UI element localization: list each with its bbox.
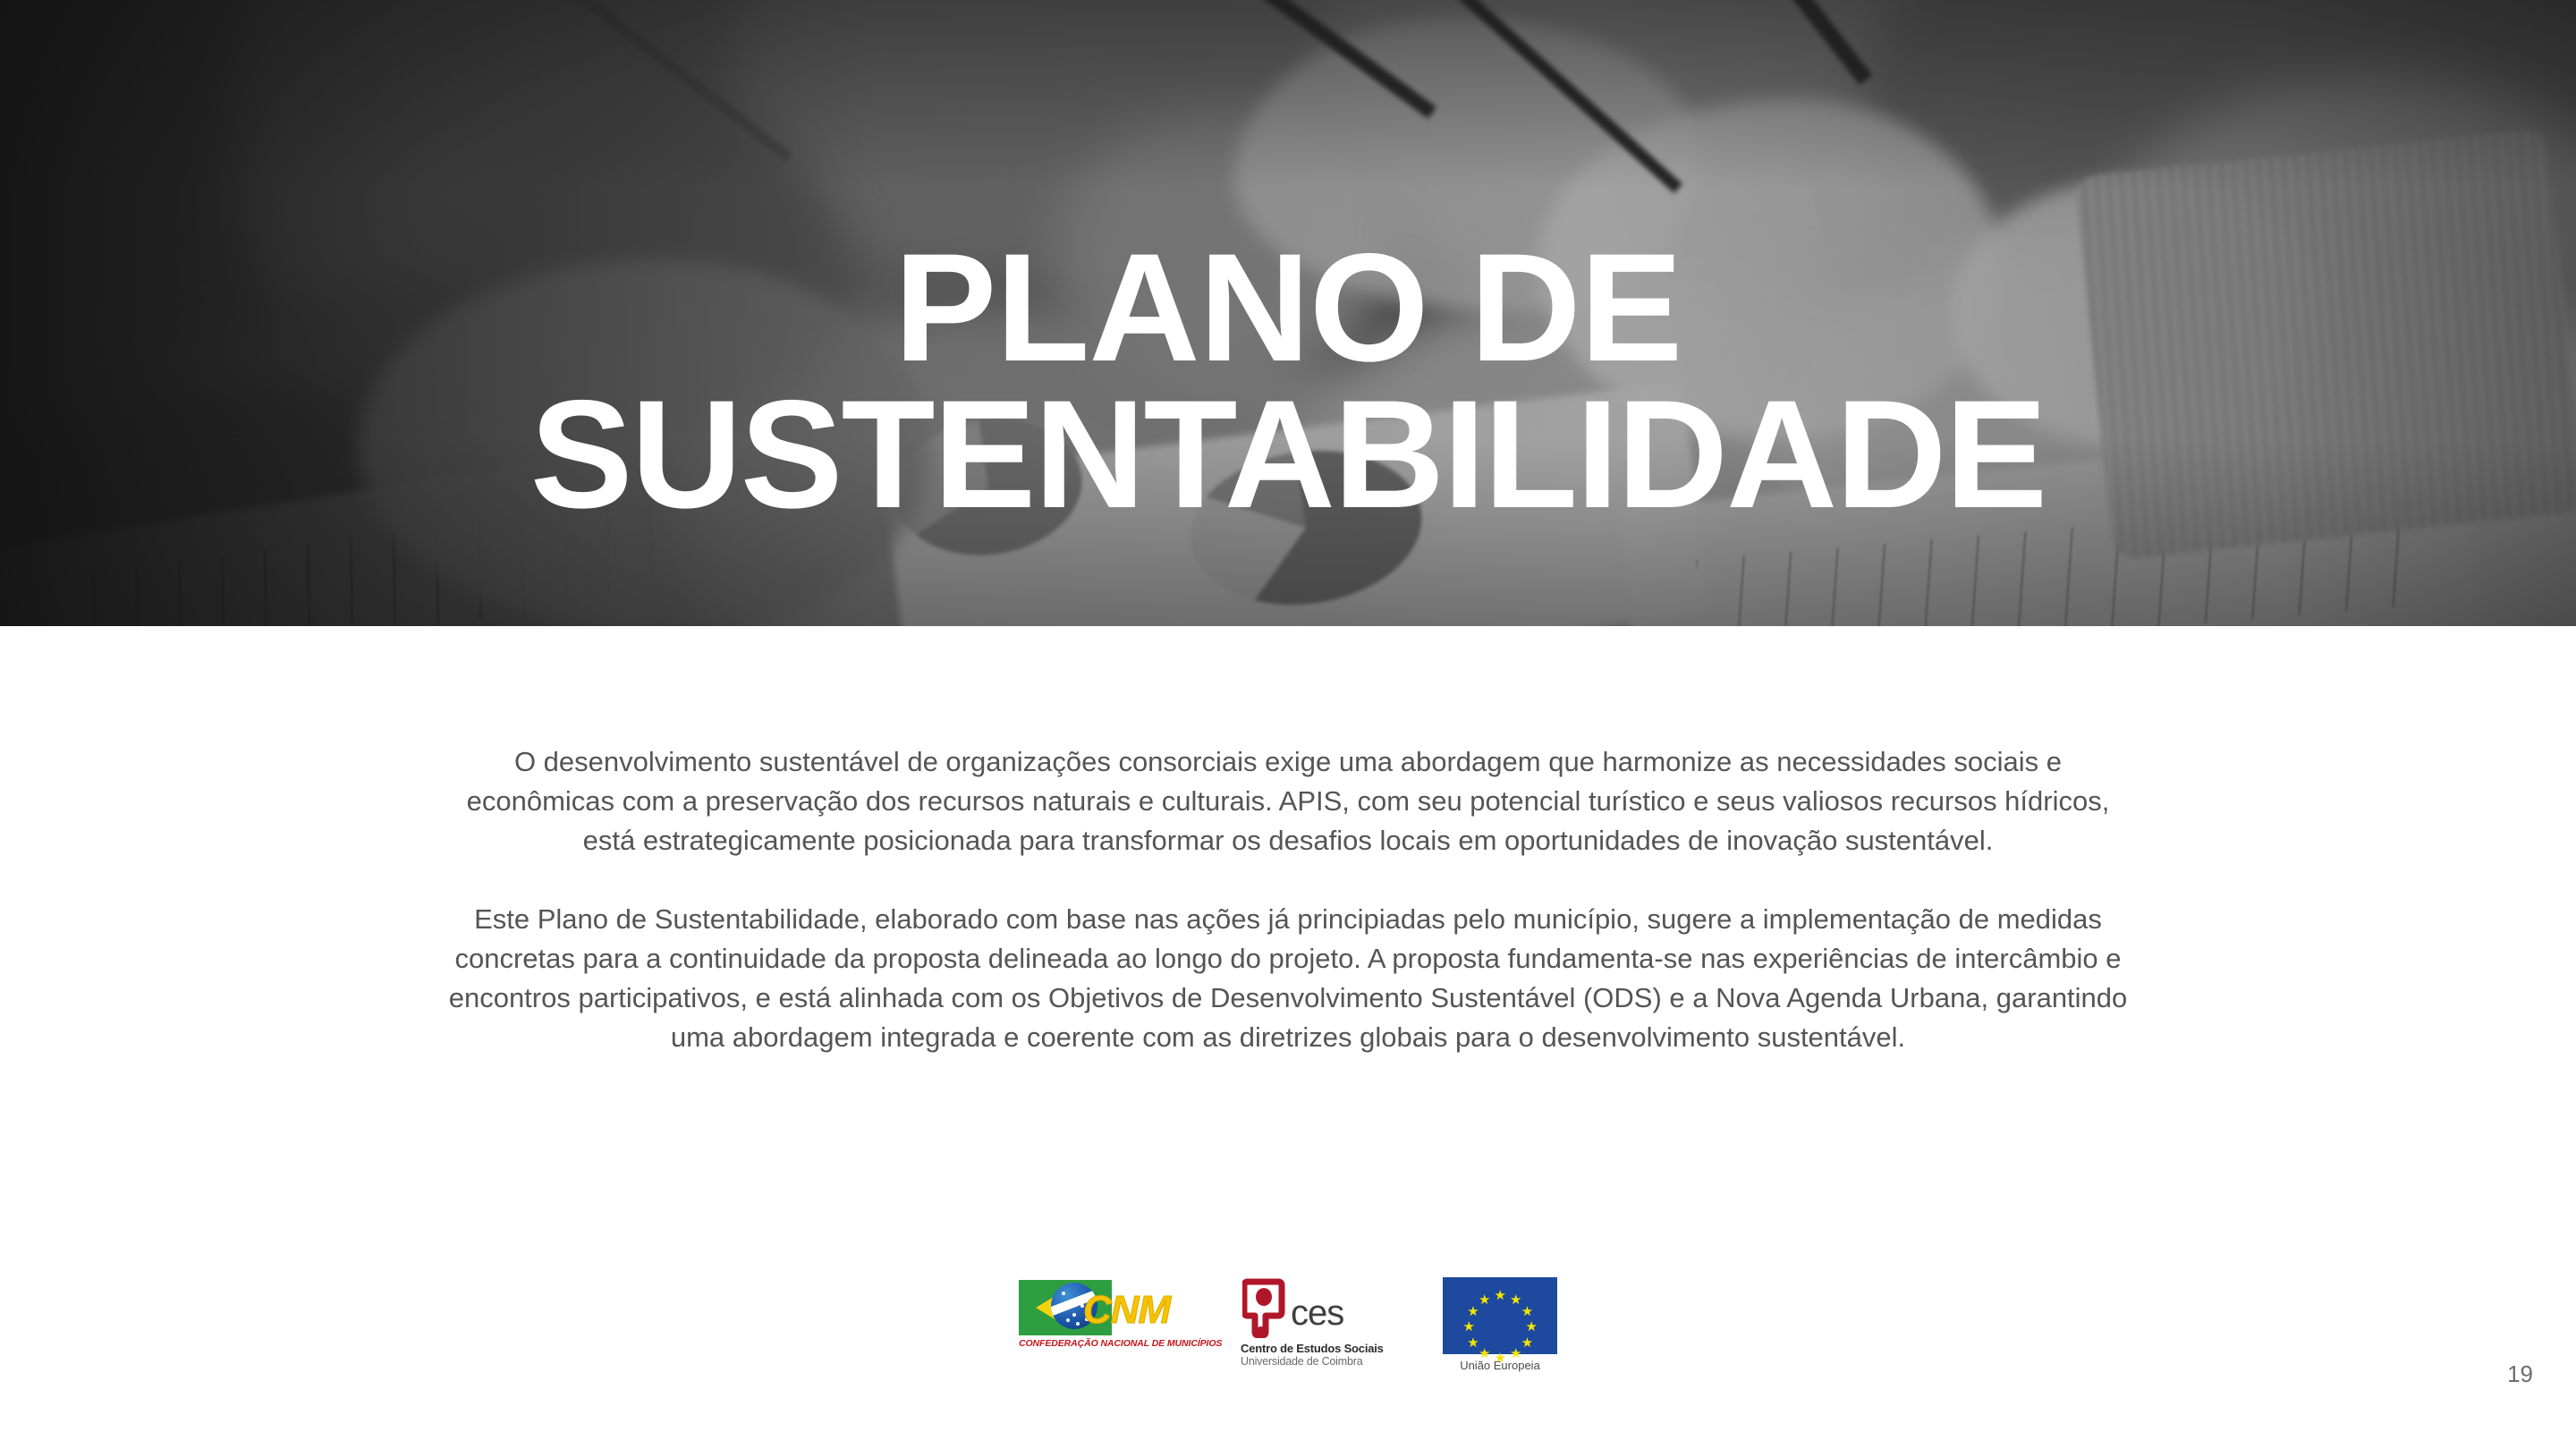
ces-logo: ces Centro de Estudos Sociais Universida… xyxy=(1241,1277,1391,1368)
page-title: PLANO DESUSTENTABILIDADE xyxy=(0,235,2576,528)
cnm-caption: CONFEDERAÇÃO NACIONAL DE MUNICÍPIOS xyxy=(1019,1338,1189,1349)
body-paragraph-1: O desenvolvimento sustentável de organiz… xyxy=(438,626,2138,860)
cnm-wordmark: CNM xyxy=(1083,1288,1170,1333)
hero-banner: PLANO DESUSTENTABILIDADE xyxy=(0,0,2576,626)
ces-caption-line-1: Centro de Estudos Sociais xyxy=(1241,1342,1391,1355)
eu-logo: ★ ★ ★ ★ ★ ★ ★ ★ ★ ★ ★ ★ União Europeia xyxy=(1443,1277,1557,1372)
partner-logos: CNM CONFEDERAÇÃO NACIONAL DE MUNICÍPIOS … xyxy=(0,1277,2576,1372)
page-title-line-2: SUSTENTABILIDADE xyxy=(0,382,2576,528)
eu-flag-icon: ★ ★ ★ ★ ★ ★ ★ ★ ★ ★ ★ ★ xyxy=(1443,1277,1557,1354)
page-number: 19 xyxy=(2507,1360,2533,1388)
body-paragraph-2: Este Plano de Sustentabilidade, elaborad… xyxy=(438,860,2138,1057)
ces-wordmark: ces xyxy=(1291,1295,1343,1331)
ces-caption-line-2: Universidade de Coimbra xyxy=(1241,1355,1391,1368)
cnm-mark-icon: CNM xyxy=(1019,1277,1189,1336)
cnm-logo: CNM CONFEDERAÇÃO NACIONAL DE MUNICÍPIOS xyxy=(1019,1277,1189,1349)
ces-mark-icon xyxy=(1242,1277,1285,1338)
